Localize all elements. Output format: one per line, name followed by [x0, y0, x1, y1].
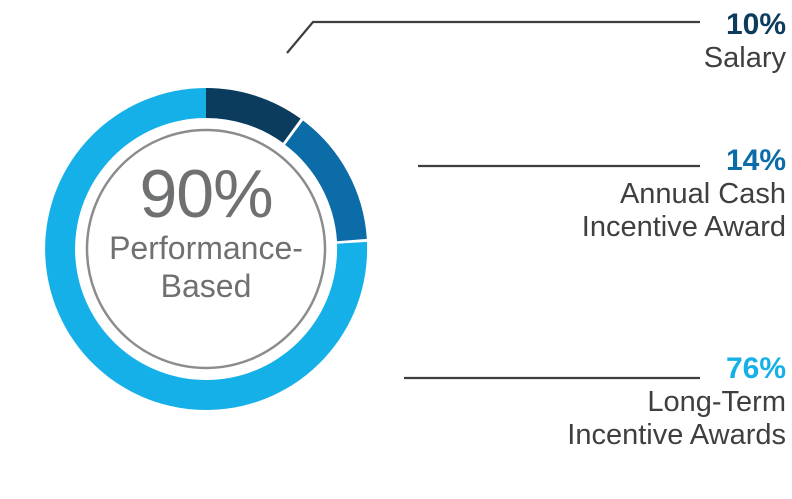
center-caption-line2: Based: [72, 268, 340, 304]
legend-label-long-term-line1: Long-Term: [567, 386, 786, 419]
legend-item-long-term[interactable]: 76% Long-Term Incentive Awards: [567, 352, 786, 452]
legend-value-long-term: 76%: [567, 352, 786, 386]
legend-label-long-term-line2: Incentive Awards: [567, 419, 786, 452]
legend-label-salary-line1: Salary: [704, 42, 786, 75]
center-caption-line1: Performance-: [72, 230, 340, 266]
legend-value-annual-cash: 14%: [582, 144, 786, 178]
legend-item-annual-cash[interactable]: 14% Annual Cash Incentive Award: [582, 144, 786, 244]
center-value: 90%: [72, 160, 340, 228]
legend-label-annual-cash-line1: Annual Cash: [582, 178, 786, 211]
compensation-mix-donut-chart: 10% Salary 14% Annual Cash Incentive Awa…: [0, 0, 792, 499]
legend-value-salary: 10%: [704, 8, 786, 42]
legend-item-salary[interactable]: 10% Salary: [704, 8, 786, 75]
donut-center-label: 90% Performance- Based: [72, 160, 340, 304]
legend-label-annual-cash-line2: Incentive Award: [582, 211, 786, 244]
